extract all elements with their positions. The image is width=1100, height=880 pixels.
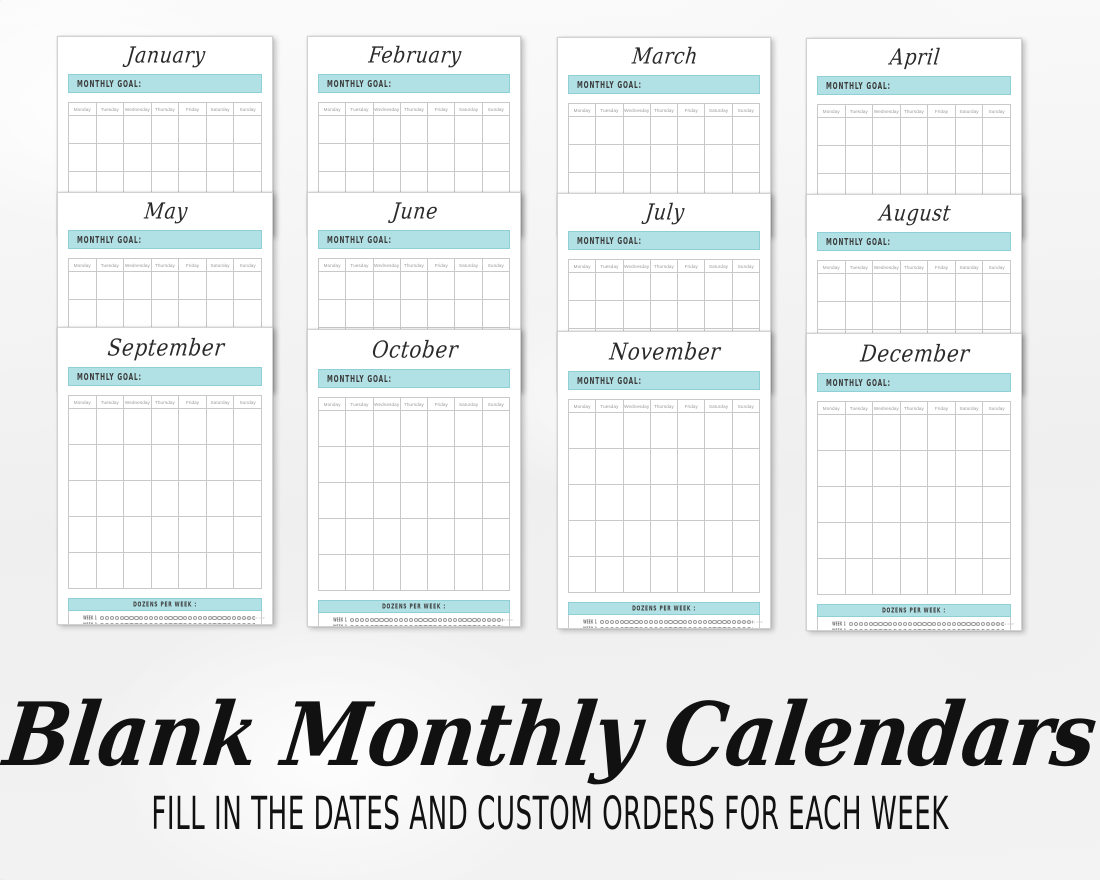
dozen-checkbox-circle[interactable] [620,627,624,629]
dozen-checkbox-circle[interactable] [717,627,721,629]
calendar-day-cell[interactable] [346,555,373,591]
dozen-checkbox-circle[interactable] [957,629,961,631]
monthly-goal-field[interactable]: MONTHLY GOAL: [817,232,1011,251]
calendar-day-cell[interactable] [179,481,207,517]
calendar-day-cell[interactable] [346,116,373,144]
dozen-checkbox-circle[interactable] [942,622,946,626]
calendar-day-cell[interactable] [124,481,152,517]
calendar-day-cell[interactable] [373,411,400,447]
dozen-checkbox-circle[interactable] [610,620,614,624]
dozen-checkbox-circle[interactable] [605,620,609,624]
dozen-checkbox-circle[interactable] [247,623,251,625]
monthly-goal-field[interactable]: MONTHLY GOAL: [318,230,510,249]
calendar-day-cell[interactable] [983,118,1011,146]
calendar-day-cell[interactable] [400,483,427,519]
dozen-checkbox-circle[interactable] [952,622,956,626]
calendar-day-cell[interactable] [151,409,179,445]
calendar-day-cell[interactable] [928,451,956,487]
calendar-day-cell[interactable] [900,487,928,523]
calendar-day-cell[interactable] [623,273,650,301]
calendar-day-cell[interactable] [900,559,928,595]
monthly-goal-field[interactable]: MONTHLY GOAL: [568,371,760,390]
calendar-day-cell[interactable] [818,274,846,302]
calendar-day-cell[interactable] [151,116,179,144]
dozen-checkbox-circle[interactable] [242,623,246,625]
calendar-day-cell[interactable] [983,302,1011,330]
calendar-day-cell[interactable] [151,517,179,553]
dozen-checkbox-circle[interactable] [961,629,965,631]
dozen-checkbox-circle[interactable] [178,616,182,620]
dozen-checkbox-circle[interactable] [365,625,369,627]
dozen-checkbox-circle[interactable] [937,622,941,626]
dozen-checkbox-circle[interactable] [854,622,858,626]
dozen-checkbox-circle[interactable] [932,622,936,626]
calendar-day-cell[interactable] [400,411,427,447]
dozen-checkbox-circle[interactable] [467,625,471,627]
calendar-day-cell[interactable] [983,451,1011,487]
calendar-page-october[interactable]: OctoberMONTHLY GOAL:MondayTuesdayWednesd… [307,329,521,627]
calendar-day-cell[interactable] [732,557,759,593]
dozen-checkbox-circle[interactable] [212,616,216,620]
dozen-checkbox-circle[interactable] [139,616,143,620]
dozen-checkbox-circle[interactable] [423,618,427,622]
dozen-checkbox-circle[interactable] [193,616,197,620]
calendar-day-cell[interactable] [482,555,509,591]
calendar-day-cell[interactable] [955,302,983,330]
calendar-day-cell[interactable] [373,144,400,172]
dozen-checkbox-circle[interactable] [717,620,721,624]
calendar-day-cell[interactable] [319,411,346,447]
calendar-day-cell[interactable] [482,447,509,483]
calendar-day-cell[interactable] [206,445,234,481]
dozen-checkbox-circle[interactable] [418,625,422,627]
dozen-checkbox-circle[interactable] [462,618,466,622]
calendar-day-cell[interactable] [319,483,346,519]
dozen-checkbox-circle[interactable] [443,625,447,627]
dozen-checkbox-circle[interactable] [986,629,990,631]
dozen-checkbox-circle[interactable] [438,625,442,627]
calendar-day-cell[interactable] [428,411,455,447]
dozen-checkbox-circle[interactable] [859,622,863,626]
calendar-day-cell[interactable] [69,409,97,445]
calendar-day-cell[interactable] [455,519,482,555]
dozen-checkbox-circle[interactable] [365,618,369,622]
calendar-day-cell[interactable] [400,519,427,555]
dozen-checkbox-circle[interactable] [668,620,672,624]
dozen-checkbox-circle[interactable] [188,616,192,620]
calendar-day-cell[interactable] [179,116,207,144]
dozen-checkbox-circle[interactable] [966,629,970,631]
dozen-checkbox-circle[interactable] [742,627,746,629]
calendar-day-cell[interactable] [569,485,596,521]
calendar-day-cell[interactable] [818,523,846,559]
dozen-checkbox-circle[interactable] [409,625,413,627]
monthly-goal-field[interactable]: MONTHLY GOAL: [68,230,262,249]
calendar-day-cell[interactable] [455,300,482,328]
dozen-checkbox-circle[interactable] [957,622,961,626]
dozen-checkbox-circle[interactable] [620,620,624,624]
calendar-day-cell[interactable] [428,555,455,591]
calendar-day-cell[interactable] [873,146,901,174]
calendar-day-cell[interactable] [455,144,482,172]
calendar-day-cell[interactable] [482,300,509,328]
dozen-checkbox-circle[interactable] [864,629,868,631]
dozen-checkbox-circle[interactable] [144,616,148,620]
dozen-checkbox-circle[interactable] [869,622,873,626]
calendar-day-cell[interactable] [983,487,1011,523]
dozen-checkbox-circle[interactable] [183,623,187,625]
dozen-checkbox-circle[interactable] [639,620,643,624]
dozen-checkbox-circle[interactable] [222,623,226,625]
dozen-checkbox-circle[interactable] [698,620,702,624]
calendar-day-cell[interactable] [678,301,705,329]
calendar-day-cell[interactable] [623,145,650,173]
calendar-day-cell[interactable] [373,447,400,483]
calendar-day-cell[interactable] [346,144,373,172]
calendar-day-cell[interactable] [373,272,400,300]
calendar-day-cell[interactable] [623,117,650,145]
calendar-day-cell[interactable] [346,411,373,447]
dozen-checkbox-circle[interactable] [193,623,197,625]
calendar-day-cell[interactable] [400,555,427,591]
calendar-day-cell[interactable] [124,517,152,553]
calendar-day-cell[interactable] [319,116,346,144]
dozen-checkbox-circle[interactable] [438,618,442,622]
calendar-day-cell[interactable] [845,523,873,559]
dozen-checkbox-circle[interactable] [605,627,609,629]
dozen-checkbox-circle[interactable] [414,618,418,622]
calendar-day-cell[interactable] [455,272,482,300]
calendar-day-cell[interactable] [873,274,901,302]
dozen-checkbox-circle[interactable] [418,618,422,622]
calendar-day-cell[interactable] [955,451,983,487]
calendar-day-cell[interactable] [234,116,262,144]
calendar-day-cell[interactable] [983,274,1011,302]
dozen-checkbox-circle[interactable] [472,618,476,622]
dozen-checkbox-circle[interactable] [913,629,917,631]
dozen-checkbox-circle[interactable] [688,627,692,629]
calendar-day-cell[interactable] [373,519,400,555]
dozen-checkbox-circle[interactable] [409,618,413,622]
calendar-day-cell[interactable] [234,272,262,300]
calendar-day-cell[interactable] [732,521,759,557]
dozen-checkbox-circle[interactable] [659,620,663,624]
dozen-checkbox-circle[interactable] [883,629,887,631]
dozen-checkbox-circle[interactable] [355,618,359,622]
calendar-day-cell[interactable] [650,521,677,557]
dozen-checkbox-circle[interactable] [203,623,207,625]
dozen-checkbox-circle[interactable] [859,629,863,631]
dozen-checkbox-circle[interactable] [981,629,985,631]
calendar-day-cell[interactable] [596,301,623,329]
calendar-day-cell[interactable] [705,485,732,521]
calendar-day-cell[interactable] [179,517,207,553]
calendar-day-cell[interactable] [96,272,124,300]
dozen-checkbox-circle[interactable] [399,618,403,622]
calendar-day-cell[interactable] [569,301,596,329]
calendar-day-cell[interactable] [124,300,152,328]
calendar-day-cell[interactable] [482,411,509,447]
calendar-day-cell[interactable] [96,116,124,144]
calendar-day-cell[interactable] [96,409,124,445]
calendar-day-cell[interactable] [955,146,983,174]
calendar-day-cell[interactable] [428,483,455,519]
calendar-day-cell[interactable] [955,274,983,302]
calendar-day-cell[interactable] [596,117,623,145]
dozen-checkbox-circle[interactable] [737,627,741,629]
dozen-checkbox-circle[interactable] [664,620,668,624]
dozen-checkbox-circle[interactable] [927,629,931,631]
dozen-checkbox-circle[interactable] [453,625,457,627]
calendar-day-cell[interactable] [428,144,455,172]
calendar-day-cell[interactable] [179,553,207,589]
dozen-checkbox-circle[interactable] [952,629,956,631]
calendar-day-cell[interactable] [873,559,901,595]
calendar-day-cell[interactable] [732,413,759,449]
dozen-checkbox-circle[interactable] [458,625,462,627]
calendar-day-cell[interactable] [373,116,400,144]
dozen-checkbox-circle[interactable] [120,623,124,625]
dozen-checkbox-circle[interactable] [237,623,241,625]
dozen-checkbox-circle[interactable] [232,616,236,620]
dozen-checkbox-circle[interactable] [134,623,138,625]
calendar-day-cell[interactable] [428,447,455,483]
calendar-day-cell[interactable] [845,415,873,451]
dozen-checkbox-circle[interactable] [898,629,902,631]
dozen-checkbox-circle[interactable] [624,620,628,624]
calendar-day-cell[interactable] [678,521,705,557]
dozen-checkbox-circle[interactable] [217,623,221,625]
dozen-checkbox-circle[interactable] [212,623,216,625]
dozen-checkbox-circle[interactable] [453,618,457,622]
dozen-checkbox-circle[interactable] [615,627,619,629]
dozen-checkbox-circle[interactable] [477,625,481,627]
calendar-day-cell[interactable] [732,145,759,173]
calendar-day-cell[interactable] [928,146,956,174]
calendar-day-cell[interactable] [818,146,846,174]
dozen-checkbox-circle[interactable] [634,620,638,624]
dozen-checkbox-circle[interactable] [360,618,364,622]
calendar-page-december[interactable]: DecemberMONTHLY GOAL:MondayTuesdayWednes… [806,333,1022,631]
dozen-checkbox-circle[interactable] [971,629,975,631]
dozen-checkbox-circle[interactable] [888,622,892,626]
dozen-checkbox-circle[interactable] [159,616,163,620]
calendar-day-cell[interactable] [96,553,124,589]
dozen-checkbox-circle[interactable] [379,625,383,627]
dozen-checkbox-circle[interactable] [732,627,736,629]
dozen-checkbox-circle[interactable] [917,629,921,631]
dozen-checkbox-circle[interactable] [105,616,109,620]
calendar-day-cell[interactable] [845,487,873,523]
calendar-day-cell[interactable] [179,445,207,481]
calendar-day-cell[interactable] [151,481,179,517]
dozen-checkbox-circle[interactable] [947,622,951,626]
dozen-checkbox-circle[interactable] [659,627,663,629]
calendar-day-cell[interactable] [455,116,482,144]
calendar-day-cell[interactable] [319,272,346,300]
monthly-goal-field[interactable]: MONTHLY GOAL: [568,75,760,94]
calendar-day-cell[interactable] [206,409,234,445]
dozen-checkbox-circle[interactable] [482,625,486,627]
dozen-checkbox-circle[interactable] [693,620,697,624]
dozen-checkbox-circle[interactable] [374,618,378,622]
calendar-day-cell[interactable] [234,553,262,589]
calendar-day-cell[interactable] [678,117,705,145]
dozen-checkbox-circle[interactable] [105,623,109,625]
dozen-checkbox-circle[interactable] [722,627,726,629]
calendar-day-cell[interactable] [206,116,234,144]
calendar-day-cell[interactable] [928,274,956,302]
dozen-checkbox-circle[interactable] [394,625,398,627]
calendar-day-cell[interactable] [900,523,928,559]
dozen-checkbox-circle[interactable] [154,623,158,625]
calendar-day-cell[interactable] [983,559,1011,595]
calendar-day-cell[interactable] [69,144,97,172]
calendar-day-cell[interactable] [455,411,482,447]
calendar-day-cell[interactable] [650,145,677,173]
dozen-checkbox-circle[interactable] [379,618,383,622]
dozen-checkbox-circle[interactable] [129,616,133,620]
calendar-day-cell[interactable] [845,146,873,174]
dozen-checkbox-circle[interactable] [203,616,207,620]
dozen-checkbox-circle[interactable] [472,625,476,627]
calendar-day-cell[interactable] [928,523,956,559]
dozen-checkbox-circle[interactable] [497,625,501,627]
dozen-checkbox-circle[interactable] [966,622,970,626]
dozen-checkbox-circle[interactable] [173,623,177,625]
dozen-checkbox-circle[interactable] [394,618,398,622]
dozen-checkbox-circle[interactable] [976,622,980,626]
monthly-goal-field[interactable]: MONTHLY GOAL: [318,74,510,93]
dozen-checkbox-circle[interactable] [654,620,658,624]
dozen-checkbox-circle[interactable] [683,620,687,624]
calendar-day-cell[interactable] [569,145,596,173]
calendar-day-cell[interactable] [96,481,124,517]
dozen-checkbox-circle[interactable] [849,629,853,631]
calendar-day-cell[interactable] [650,117,677,145]
dozen-checkbox-circle[interactable] [600,620,604,624]
dozen-checkbox-circle[interactable] [629,620,633,624]
dozen-checkbox-circle[interactable] [374,625,378,627]
calendar-day-cell[interactable] [124,553,152,589]
calendar-day-cell[interactable] [428,272,455,300]
calendar-day-cell[interactable] [900,118,928,146]
dozen-checkbox-circle[interactable] [428,625,432,627]
dozen-checkbox-circle[interactable] [159,623,163,625]
calendar-day-cell[interactable] [319,555,346,591]
dozen-checkbox-circle[interactable] [649,627,653,629]
dozen-checkbox-circle[interactable] [976,629,980,631]
dozen-checkbox-circle[interactable] [384,625,388,627]
calendar-day-cell[interactable] [569,521,596,557]
calendar-day-cell[interactable] [818,118,846,146]
calendar-day-cell[interactable] [455,555,482,591]
monthly-goal-field[interactable]: MONTHLY GOAL: [68,74,262,93]
dozen-checkbox-circle[interactable] [154,616,158,620]
calendar-day-cell[interactable] [596,485,623,521]
dozen-checkbox-circle[interactable] [370,618,374,622]
calendar-day-cell[interactable] [319,300,346,328]
dozen-checkbox-circle[interactable] [227,623,231,625]
calendar-day-cell[interactable] [873,415,901,451]
calendar-day-cell[interactable] [678,145,705,173]
calendar-day-cell[interactable] [319,447,346,483]
calendar-day-cell[interactable] [455,447,482,483]
dozen-checkbox-circle[interactable] [389,625,393,627]
dozen-checkbox-circle[interactable] [414,625,418,627]
dozen-checkbox-circle[interactable] [673,620,677,624]
calendar-day-cell[interactable] [346,300,373,328]
calendar-day-cell[interactable] [69,300,97,328]
calendar-day-cell[interactable] [482,483,509,519]
calendar-day-cell[interactable] [346,447,373,483]
dozen-checkbox-circle[interactable] [849,622,853,626]
dozen-checkbox-circle[interactable] [747,627,751,629]
dozen-checkbox-circle[interactable] [703,620,707,624]
dozen-checkbox-circle[interactable] [443,618,447,622]
calendar-day-cell[interactable] [873,487,901,523]
calendar-day-cell[interactable] [818,559,846,595]
calendar-day-cell[interactable] [955,118,983,146]
calendar-day-cell[interactable] [650,273,677,301]
dozen-checkbox-circle[interactable] [433,625,437,627]
dozen-checkbox-circle[interactable] [688,620,692,624]
calendar-day-cell[interactable] [346,519,373,555]
calendar-day-cell[interactable] [818,415,846,451]
dozen-checkbox-circle[interactable] [600,627,604,629]
dozen-checkbox-circle[interactable] [423,625,427,627]
calendar-day-cell[interactable] [678,449,705,485]
calendar-day-cell[interactable] [623,449,650,485]
dozen-checkbox-circle[interactable] [908,622,912,626]
calendar-day-cell[interactable] [179,300,207,328]
calendar-day-cell[interactable] [234,409,262,445]
calendar-day-cell[interactable] [732,301,759,329]
calendar-day-cell[interactable] [206,272,234,300]
dozen-checkbox-circle[interactable] [629,627,633,629]
calendar-day-cell[interactable] [955,523,983,559]
calendar-day-cell[interactable] [428,519,455,555]
calendar-day-cell[interactable] [373,555,400,591]
dozen-checkbox-circle[interactable] [404,625,408,627]
dozen-checkbox-circle[interactable] [389,618,393,622]
calendar-day-cell[interactable] [678,557,705,593]
calendar-day-cell[interactable] [928,118,956,146]
calendar-day-cell[interactable] [955,415,983,451]
calendar-day-cell[interactable] [569,449,596,485]
calendar-day-cell[interactable] [96,300,124,328]
dozen-checkbox-circle[interactable] [149,616,153,620]
calendar-day-cell[interactable] [346,272,373,300]
dozen-checkbox-circle[interactable] [634,627,638,629]
calendar-day-cell[interactable] [96,445,124,481]
calendar-day-cell[interactable] [124,272,152,300]
calendar-day-cell[interactable] [705,521,732,557]
dozen-checkbox-circle[interactable] [502,625,503,627]
calendar-day-cell[interactable] [69,272,97,300]
calendar-day-cell[interactable] [346,483,373,519]
calendar-day-cell[interactable] [206,553,234,589]
dozen-checkbox-circle[interactable] [981,622,985,626]
dozen-checkbox-circle[interactable] [712,627,716,629]
calendar-day-cell[interactable] [928,487,956,523]
calendar-day-cell[interactable] [69,445,97,481]
dozen-checkbox-circle[interactable] [458,618,462,622]
calendar-day-cell[interactable] [705,273,732,301]
dozen-checkbox-circle[interactable] [110,623,114,625]
dozen-checkbox-circle[interactable] [208,616,212,620]
calendar-day-cell[interactable] [732,485,759,521]
